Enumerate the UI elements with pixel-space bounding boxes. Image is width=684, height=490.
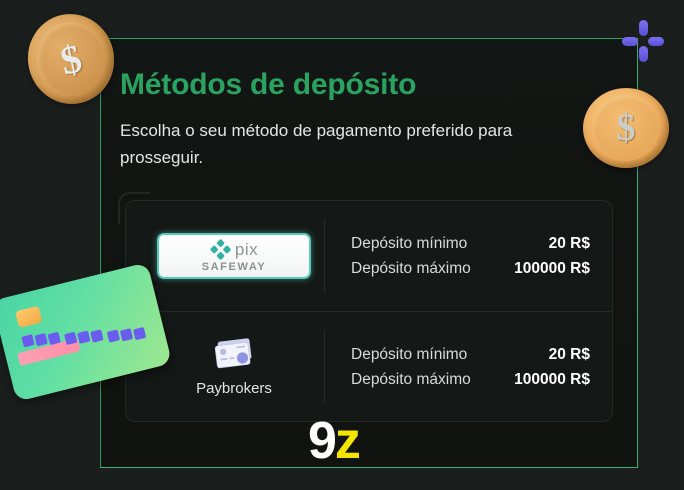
sparkle-petal-bottom [639,46,648,62]
brand-logo-9z: 9z [308,415,359,467]
payment-method-paybrokers[interactable]: Paybrokers Depósito mínimo 20 R$ Depósit… [126,311,612,421]
deposit-max-label: Depósito máximo [351,256,471,281]
paybrokers-logo-column: Paybrokers [144,337,324,397]
deposit-min-value: 20 R$ [549,342,590,367]
sparkle-petal-left [622,37,638,46]
dollar-sign-glyph: $ [617,106,636,150]
logo-digit-9: 9 [308,412,335,470]
card-number-block [90,329,103,342]
deposit-max-value: 100000 R$ [514,256,590,281]
logo-letter-z: z [335,412,359,470]
gold-coin-icon-secondary: $ [583,88,669,168]
paybrokers-logo-wrap[interactable]: Paybrokers [196,337,272,397]
deposit-max-line: Depósito máximo 100000 R$ [351,367,590,392]
page-subtitle: Escolha o seu método de pagamento prefer… [120,117,570,171]
row-divider [324,219,325,293]
deposit-min-line: Depósito mínimo 20 R$ [351,231,590,256]
row-divider [324,330,325,404]
deposit-max-value: 100000 R$ [514,367,590,392]
page-background: Métodos de depósito Escolha o seu método… [0,0,684,490]
pix-logo-row: pix [210,240,258,260]
deposit-max-label: Depósito máximo [351,367,471,392]
payment-method-pix-safeway[interactable]: pix SAFEWAY Depósito mínimo 20 R$ Depósi… [126,201,612,311]
panel-inner-corner-accent [118,192,150,224]
card-number-block [107,329,120,342]
page-title: Métodos de depósito [120,68,416,102]
deposit-min-label: Depósito mínimo [351,342,467,367]
sparkle-petal-top [639,20,648,36]
pix-diamond-icon [210,239,231,260]
deposit-min-value: 20 R$ [549,231,590,256]
coin-inner-face: $ [592,95,661,161]
payment-methods-list: pix SAFEWAY Depósito mínimo 20 R$ Depósi… [125,200,613,422]
card-number-block [34,333,47,346]
pix-safeway-label: SAFEWAY [202,261,267,273]
pix-logo-column: pix SAFEWAY [144,233,324,279]
paybrokers-deposit-info: Depósito mínimo 20 R$ Depósito máximo 10… [351,342,612,392]
card-number-block [133,327,146,340]
deposit-min-label: Depósito mínimo [351,231,467,256]
credit-card-chip [15,306,42,328]
card-number-block [77,331,90,344]
credit-card-icon [211,337,257,371]
dollar-sign-glyph: $ [56,34,86,84]
gold-coin-icon: $ [19,5,123,112]
plus-sparkle-icon [622,20,664,62]
deposit-max-line: Depósito máximo 100000 R$ [351,256,590,281]
deposit-min-line: Depósito mínimo 20 R$ [351,342,590,367]
paybrokers-label: Paybrokers [196,380,272,397]
sparkle-petal-right [648,37,664,46]
pix-safeway-logo-tile[interactable]: pix SAFEWAY [157,233,311,279]
pix-wordmark: pix [235,241,258,258]
pix-deposit-info: Depósito mínimo 20 R$ Depósito máximo 10… [351,231,612,281]
card-number-block [21,334,34,347]
card-number-block [120,328,133,341]
